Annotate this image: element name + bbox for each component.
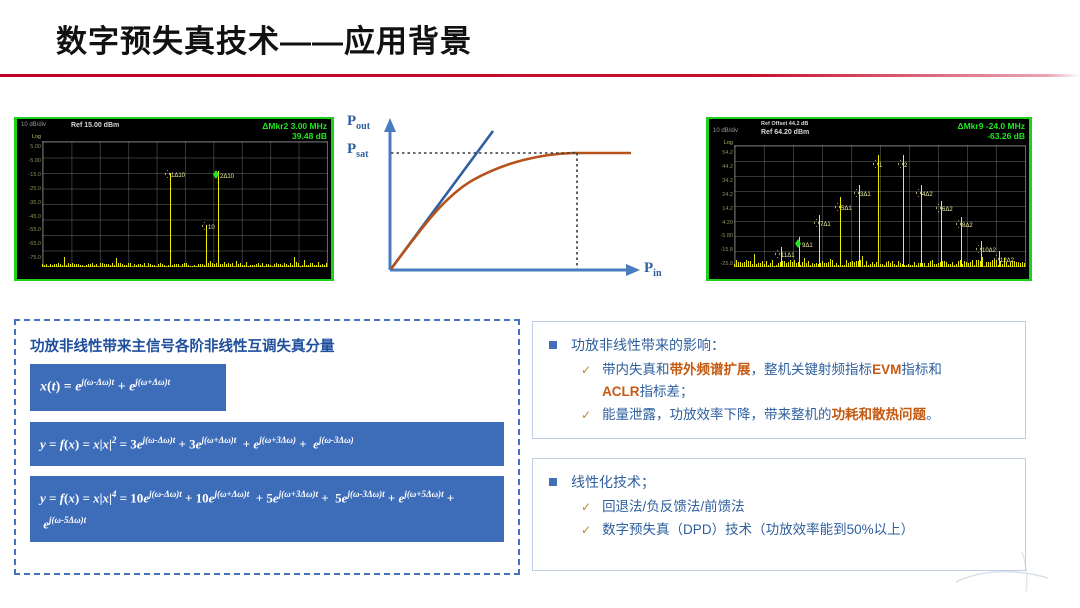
noise-bin (824, 263, 825, 267)
noise-bin (864, 265, 865, 267)
noise-bin (150, 264, 151, 268)
noise-bin (184, 263, 185, 267)
noise-bin (270, 265, 271, 267)
noise-bin (914, 262, 915, 267)
noise-bin (44, 265, 45, 267)
linearization-item-1-text: 回退法/负反馈法/前馈法 (602, 496, 745, 518)
noise-bin (934, 264, 935, 267)
right-spectrum-ref-offset-label: Ref Offset 44.2 dB (761, 121, 808, 127)
noise-bin (256, 264, 257, 267)
noise-bin (134, 264, 135, 267)
marker-diamond-icon (976, 245, 981, 253)
noise-bin (72, 263, 73, 267)
noise-bin (96, 264, 97, 267)
noise-bin (224, 262, 225, 267)
noise-bin (816, 263, 817, 267)
noise-bin (880, 264, 881, 267)
noise-bin (182, 264, 183, 267)
y-tick: -15.8 (711, 244, 733, 258)
noise-bin (984, 266, 985, 267)
linearization-item-2: ✓ 数字预失真（DPD）技术（功放效率能到50%以上） (581, 519, 1011, 541)
formula-3: y = f(x) = x|x|4 = 10ej(ω-Δω)t + 10ej(ω+… (30, 476, 504, 542)
effects-heading-text: 功放非线性带来的影响： (571, 334, 725, 356)
noise-bin (892, 261, 893, 267)
noise-bin (46, 264, 47, 267)
noise-bin (68, 263, 69, 268)
noise-bin (852, 261, 853, 267)
noise-bin (308, 265, 309, 267)
noise-bin (282, 265, 283, 267)
effects-item-2-text: 能量泄露，功放效率下降，带来整机的功耗和散热问题。 (602, 404, 940, 426)
noise-bin (88, 264, 89, 267)
marker-diamond-filled-icon (795, 239, 801, 248)
left-marker-delta: 39.48 dB (262, 131, 327, 141)
noise-bin (786, 263, 787, 267)
noise-bin (868, 265, 869, 267)
linearization-bullet-heading: 线性化技术； (547, 471, 1011, 493)
noise-bin (304, 260, 305, 267)
noise-bin (988, 262, 989, 267)
noise-bin (246, 262, 247, 267)
marker-diamond-icon (956, 220, 961, 228)
spectrum-marker: 9Δ1 (795, 239, 813, 249)
y-tick: -75.0 (19, 252, 41, 266)
noise-bin (288, 265, 289, 267)
noise-bin (84, 266, 85, 268)
noise-bin (194, 265, 195, 267)
spectrum-marker: 2 (898, 160, 907, 169)
noise-bin (908, 264, 909, 267)
noise-bin (158, 264, 159, 267)
noise-bin (1014, 261, 1015, 267)
noise-bin (222, 264, 223, 267)
page-title: 数字预失真技术——应用背景 (56, 16, 472, 61)
right-axis-log-label: Log (711, 139, 733, 147)
noise-bin (178, 264, 179, 267)
noise-bin (216, 263, 217, 267)
spectrum-marker: 7Δ1 (814, 219, 831, 228)
noise-bin (804, 258, 805, 267)
noise-bin (190, 266, 191, 268)
noise-bin (312, 263, 313, 267)
noise-bin (320, 265, 321, 267)
left-axis-log-label: Log (19, 133, 41, 141)
noise-bin (1002, 264, 1003, 267)
noise-bin (774, 266, 775, 267)
x-axis-label: Pin (644, 260, 662, 279)
noise-bin (220, 264, 221, 267)
noise-bin (208, 263, 209, 267)
noise-bin (764, 264, 765, 267)
noise-bin (214, 264, 215, 267)
noise-bin (262, 263, 263, 267)
noise-bin (316, 265, 317, 267)
noise-bin (318, 262, 319, 267)
y-tick: -35.0 (19, 197, 41, 211)
noise-bin (768, 265, 769, 267)
noise-bin (944, 261, 945, 267)
marker-diamond-icon (835, 203, 840, 211)
noise-bin (86, 265, 87, 267)
noise-bin (900, 263, 901, 267)
noise-bin (80, 265, 81, 267)
noise-bin (772, 260, 773, 267)
spectrum-peak (206, 225, 207, 267)
noise-bin (848, 263, 849, 267)
noise-bin (122, 264, 123, 267)
noise-bin (126, 265, 127, 267)
noise-bin (128, 263, 129, 267)
spectrum-marker: 11Δ1 (775, 250, 795, 259)
noise-bin (810, 265, 811, 267)
curve-svg (345, 108, 685, 288)
noise-bin (284, 263, 285, 267)
noise-bin (950, 264, 951, 267)
noise-bin (198, 264, 199, 267)
noise-bin (258, 263, 259, 267)
spectrum-marker: 8Δ2 (956, 220, 973, 229)
noise-bin (300, 266, 301, 268)
title-divider (0, 74, 1080, 77)
noise-bin (152, 265, 153, 267)
y-tick: -5.00 (19, 155, 41, 169)
noise-bin (200, 264, 201, 267)
noise-bin (912, 265, 913, 267)
noise-bin (212, 263, 213, 267)
noise-bin (238, 264, 239, 268)
noise-bin (234, 266, 235, 267)
noise-bin (748, 261, 749, 267)
noise-bin (144, 263, 145, 267)
noise-bin (978, 260, 979, 267)
noise-bin (58, 263, 59, 267)
noise-bin (248, 266, 249, 267)
spectrum-marker: 1 (873, 160, 882, 169)
noise-bin (186, 263, 187, 267)
noise-bin (778, 263, 779, 267)
noise-bin (830, 259, 831, 267)
noise-bin (192, 266, 193, 268)
noise-bin (854, 262, 855, 267)
noise-bin (94, 265, 95, 267)
noise-bin (112, 263, 113, 267)
effects-item-2: ✓ 能量泄露，功放效率下降，带来整机的功耗和散热问题。 (581, 404, 1011, 426)
noise-bin (242, 265, 243, 267)
noise-bin (744, 262, 745, 267)
noise-bin (42, 264, 43, 267)
y-tick: -25.8 (711, 258, 733, 272)
noise-bin (180, 266, 181, 267)
noise-bin (236, 261, 237, 267)
noise-bin (916, 265, 917, 267)
noise-bin (290, 263, 291, 267)
noise-bin (268, 264, 269, 267)
noise-bin (766, 261, 767, 267)
noise-bin (102, 263, 103, 268)
noise-bin (924, 263, 925, 267)
noise-bin (870, 264, 871, 267)
noise-bin (162, 264, 163, 267)
noise-bin (838, 265, 839, 267)
check-icon: ✓ (581, 496, 591, 518)
formula-2: y = f(x) = x|x|2 = 3ej(ω-Δω)t + 3ej(ω+Δω… (30, 422, 504, 466)
noise-bin (326, 263, 327, 267)
noise-bin (784, 261, 785, 267)
noise-bin (274, 264, 275, 267)
marker-diamond-filled-icon (213, 170, 219, 179)
noise-bin (1022, 262, 1023, 267)
noise-bin (872, 262, 873, 267)
left-marker-freq: ΔMkr2 3.00 MHz (262, 121, 327, 131)
noise-bin (802, 262, 803, 267)
noise-bin (164, 265, 165, 267)
formula-box-heading: 功放非线性带来主信号各阶非线性互调失真分量 (30, 335, 335, 356)
noise-bin (754, 254, 755, 267)
noise-bin (752, 264, 753, 268)
spectrum-marker: 12Δ2 (994, 255, 1014, 264)
noise-bin (70, 264, 71, 267)
noise-bin (294, 257, 295, 267)
noise-bin (264, 266, 265, 268)
noise-bin (910, 265, 911, 267)
y-tick: 54.2 (711, 147, 733, 161)
noise-bin (120, 263, 121, 267)
noise-bin (760, 263, 761, 268)
noise-bin (168, 265, 169, 267)
linearization-item-1: ✓ 回退法/负反馈法/前馈法 (581, 496, 1011, 518)
spectrum-peak (218, 171, 219, 267)
noise-bin (758, 263, 759, 267)
noise-bin (952, 262, 953, 267)
noise-bin (792, 262, 793, 267)
y-tick: 44.2 (711, 161, 733, 175)
noise-bin (956, 264, 957, 267)
noise-bin (862, 256, 863, 267)
noise-bin (976, 260, 977, 267)
marker-diamond-icon (775, 250, 780, 258)
right-spectrum-marker-readout: ΔMkr9 -24.0 MHz -63.26 dB (957, 121, 1025, 141)
marker-diamond-icon (936, 204, 941, 212)
spectrum-marker: 4Δ2 (916, 189, 933, 198)
noise-bin (876, 262, 877, 267)
noise-bin (148, 263, 149, 267)
noise-bin (970, 262, 971, 267)
noise-bin (66, 265, 67, 267)
noise-bin (986, 262, 987, 267)
formula-box: 功放非线性带来主信号各阶非线性互调失真分量 x(t) = ej(ω-Δω)t +… (14, 319, 520, 575)
noise-bin (936, 264, 937, 267)
noise-bin (146, 266, 147, 267)
noise-bin (958, 261, 959, 267)
noise-bin (230, 264, 231, 267)
spectrum-marker: 10 (202, 222, 215, 231)
noise-bin (250, 265, 251, 267)
noise-bin (822, 261, 823, 267)
left-spectrum-marker-readout: ΔMkr2 3.00 MHz 39.48 dB (262, 121, 327, 141)
noise-bin (174, 264, 175, 267)
noise-bin (100, 263, 101, 267)
marker-diamond-icon (854, 189, 859, 197)
noise-bin (790, 260, 791, 267)
noise-bin (60, 264, 61, 267)
right-marker-freq: ΔMkr9 -24.0 MHz (957, 121, 1025, 131)
noise-bin (1008, 265, 1009, 267)
noise-bin (866, 261, 867, 267)
noise-bin (828, 262, 829, 267)
noise-bin (918, 263, 919, 267)
noise-bin (104, 264, 105, 267)
noise-bin (228, 263, 229, 267)
noise-bin (992, 260, 993, 267)
noise-bin (138, 264, 139, 267)
noise-bin (888, 261, 889, 267)
noise-bin (240, 263, 241, 267)
spectrum-peak (878, 155, 879, 267)
noise-bin (278, 264, 279, 267)
noise-bin (314, 265, 315, 267)
noise-bin (808, 261, 809, 267)
noise-bin (196, 266, 197, 267)
noise-bin (310, 263, 311, 267)
noise-bin (968, 263, 969, 267)
noise-bin (874, 264, 875, 267)
y-tick: 14.2 (711, 203, 733, 217)
linearization-item-2-text: 数字预失真（DPD）技术（功放效率能到50%以上） (602, 519, 914, 541)
noise-bin (210, 261, 211, 267)
noise-bin (204, 265, 205, 267)
square-bullet-icon (549, 341, 557, 349)
noise-bin (296, 262, 297, 267)
right-spectrum-div-label: 10 dB/div (713, 128, 738, 134)
noise-bin (948, 264, 949, 267)
spectrum-marker: 10Δ2 (976, 245, 996, 254)
spectrum-marker: 3Δ1 (854, 189, 871, 198)
noise-bin (132, 266, 133, 267)
noise-bin (886, 262, 887, 268)
noise-bin (856, 261, 857, 267)
check-icon: ✓ (581, 519, 591, 541)
noise-bin (1024, 263, 1025, 267)
spectrum-marker: 5Δ1 (835, 203, 852, 212)
noise-bin (846, 260, 847, 267)
noise-bin (298, 263, 299, 267)
y-tick: 24.2 (711, 189, 733, 203)
noise-bin (894, 264, 895, 268)
noise-bin (324, 265, 325, 267)
noise-bin (142, 265, 143, 267)
noise-bin (110, 265, 111, 267)
noise-bin (844, 265, 845, 267)
marker-diamond-icon (165, 170, 170, 178)
marker-diamond-icon (916, 189, 921, 197)
left-spectrum-div-label: 10 dB/div (21, 122, 46, 128)
noise-bin (252, 265, 253, 267)
noise-bin (938, 263, 939, 267)
noise-bin (116, 258, 117, 267)
noise-bin (166, 266, 167, 267)
noise-bin (896, 265, 897, 267)
noise-bin (52, 265, 53, 267)
noise-bin (832, 260, 833, 267)
y-tick: -5.80 (711, 230, 733, 244)
linearization-heading-text: 线性化技术； (571, 471, 655, 493)
noise-bin (972, 260, 973, 267)
marker-diamond-icon (994, 255, 999, 263)
noise-bin (98, 266, 99, 267)
noise-bin (756, 264, 757, 267)
noise-bin (932, 260, 933, 267)
noise-bin (850, 262, 851, 267)
noise-bin (750, 261, 751, 267)
right-spectrum-y-axis: Log 54.2 44.2 34.2 24.2 14.2 4.20 -5.80 … (711, 139, 733, 272)
square-bullet-icon (549, 478, 557, 486)
effects-item-1: ✓ 带内失真和带外频谱扩展，整机关键射频指标EVM指标和 ACLR指标差； (581, 359, 1011, 403)
noise-bin (306, 265, 307, 267)
noise-bin (906, 265, 907, 267)
left-spectrum-noise-floor (42, 254, 328, 267)
noise-bin (946, 262, 947, 267)
noise-bin (776, 265, 777, 267)
y-axis-label: Pout (347, 113, 370, 132)
left-spectrum-grid (42, 141, 328, 267)
noise-bin (254, 265, 255, 267)
am-am-saturation-curve: Pout Psat Pin (345, 108, 685, 288)
noise-bin (48, 266, 49, 268)
noise-bin (826, 263, 827, 267)
noise-bin (740, 262, 741, 267)
noise-bin (794, 260, 795, 267)
noise-bin (62, 265, 63, 267)
noise-bin (160, 263, 161, 267)
noise-bin (836, 263, 837, 267)
noise-bin (286, 264, 287, 267)
y-tick: -55.0 (19, 224, 41, 238)
noise-bin (990, 262, 991, 267)
noise-bin (64, 257, 65, 267)
effects-item-1-text: 带内失真和带外频谱扩展，整机关键射频指标EVM指标和 ACLR指标差； (602, 359, 942, 403)
y-tick: -45.0 (19, 211, 41, 225)
noise-bin (56, 264, 57, 267)
noise-bin (90, 264, 91, 267)
spectrum-peak (170, 173, 171, 267)
noise-bin (280, 264, 281, 267)
noise-bin (882, 264, 883, 267)
y-tick: 34.2 (711, 175, 733, 189)
noise-bin (814, 264, 815, 267)
noise-bin (930, 261, 931, 267)
psat-label: Psat (347, 141, 368, 160)
noise-bin (232, 263, 233, 267)
noise-bin (770, 263, 771, 267)
y-tick: -25.0 (19, 183, 41, 197)
noise-bin (226, 264, 227, 268)
y-tick: 4.20 (711, 217, 733, 231)
spectrum-peak (903, 155, 904, 267)
noise-bin (742, 263, 743, 267)
noise-bin (74, 264, 75, 267)
spectrum-marker: 1Δ10 (165, 170, 185, 179)
noise-bin (108, 264, 109, 267)
noise-bin (926, 266, 927, 268)
effects-bullet-heading: 功放非线性带来的影响： (547, 334, 1011, 356)
noise-bin (890, 263, 891, 267)
noise-bin (788, 262, 789, 267)
left-spectrum-analyzer: 10 dB/div Ref 15.00 dBm ΔMkr2 3.00 MHz 3… (14, 117, 334, 281)
noise-bin (154, 265, 155, 267)
left-spectrum-y-axis: Log 5.00 -5.00 -15.0 -25.0 -35.0 -45.0 -… (19, 133, 41, 266)
marker-diamond-icon (202, 222, 207, 230)
noise-bin (954, 265, 955, 267)
